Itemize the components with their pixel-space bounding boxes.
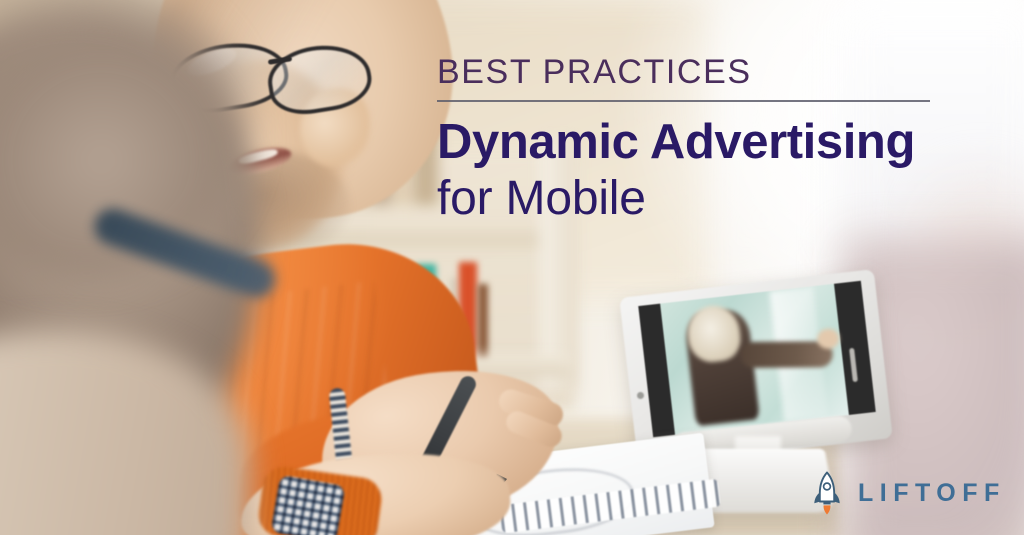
hero-banner: BEST PRACTICES Dynamic Advertising for M…: [0, 0, 1024, 535]
liftoff-logo[interactable]: LIFTOFF: [812, 470, 1006, 516]
screen-video-frame: [660, 284, 849, 435]
headline-block: BEST PRACTICES Dynamic Advertising for M…: [437, 55, 957, 226]
page-title: Dynamic Advertising: [437, 116, 957, 169]
headline-divider: [437, 100, 930, 102]
kicker-text: BEST PRACTICES: [437, 55, 957, 89]
logo-wordmark: LIFTOFF: [858, 481, 1006, 506]
smartphone-screen: [638, 281, 876, 438]
rocket-icon: [812, 470, 842, 516]
page-subtitle: for Mobile: [437, 173, 957, 226]
checked-shirt-cuff-right: [270, 475, 345, 535]
